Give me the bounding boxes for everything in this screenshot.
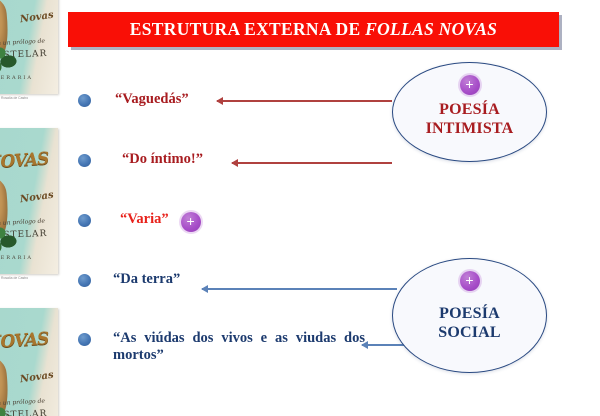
thumbnail-caption: Rosalía de Castro (1, 276, 57, 280)
slide-title-banner: ESTRUTURA EXTERNA DE FOLLAS NOVAS (68, 12, 559, 47)
list-item[interactable]: “Do íntimo!” (78, 151, 203, 168)
list-item[interactable]: “As viúdas dos vivos e as viudas dos mor… (78, 330, 365, 364)
cover-leaf-illustration (0, 219, 21, 252)
group-node-label: POESÍA SOCIAL (438, 304, 501, 342)
cover-leaf-illustration (0, 399, 21, 416)
bullet-icon (78, 94, 91, 107)
group-node-label-line1: POESÍA (438, 304, 501, 323)
expand-plus-badge-varia[interactable]: + (181, 212, 201, 232)
list-item-label: “Da terra” (113, 271, 180, 288)
book-cover-image: NOVAS Novas con un prólogo de CASTELAR L… (0, 128, 58, 274)
expand-plus-badge-social[interactable]: + (460, 271, 480, 291)
group-node-label: POESÍA INTIMISTA (426, 100, 514, 138)
list-item-label: “Vaguedás” (115, 91, 189, 108)
expand-plus-badge-intimista[interactable]: + (460, 75, 480, 95)
cover-script-title: Novas (20, 370, 55, 386)
group-node-label-line2: INTIMISTA (426, 119, 514, 138)
connector-arrow-vaguedas (217, 100, 392, 102)
page-title-work: FOLLAS NOVAS (365, 19, 497, 39)
list-item[interactable]: “Da terra” (78, 271, 180, 288)
cover-script-title: Novas (20, 190, 55, 206)
thumbnail-caption: Rosalía de Castro (1, 96, 57, 100)
book-cover-image: NOVAS Novas con un prólogo de CASTELAR L… (0, 308, 58, 416)
slide-thumbnail-strip[interactable]: NOVAS Novas con un prólogo de CASTELAR L… (0, 0, 62, 416)
page-title: ESTRUTURA EXTERNA DE FOLLAS NOVAS (130, 19, 497, 40)
bullet-icon (78, 274, 91, 287)
bullet-icon (78, 333, 91, 346)
list-item[interactable]: “Vaguedás” (78, 91, 189, 108)
page-title-prefix: ESTRUTURA EXTERNA DE (130, 19, 365, 39)
group-node-label-line1: POESÍA (426, 100, 514, 119)
bullet-icon (78, 214, 91, 227)
cover-script-title: Novas (20, 10, 55, 26)
bullet-icon (78, 154, 91, 167)
list-item-label: “As viúdas dos vivos e as viudas dos mor… (113, 330, 365, 364)
slide-canvas: ESTRUTURA EXTERNA DE FOLLAS NOVAS “Vague… (62, 0, 600, 416)
slide-thumbnail[interactable]: NOVAS Novas con un prólogo de CASTELAR L… (0, 128, 58, 274)
cover-footer: LITERARIA (0, 75, 33, 81)
cover-title: NOVAS (0, 329, 49, 353)
cover-leaf-illustration (0, 39, 21, 72)
cover-title: NOVAS (0, 149, 49, 173)
group-node-poesia-intimista[interactable]: + POESÍA INTIMISTA (392, 62, 547, 162)
book-cover-image: NOVAS Novas con un prólogo de CASTELAR L… (0, 0, 58, 94)
list-item-label: “Do íntimo!” (122, 151, 203, 168)
connector-arrow-da-terra (202, 288, 397, 290)
slide-thumbnail[interactable]: NOVAS Novas con un prólogo de CASTELAR L… (0, 0, 58, 94)
slide-thumbnail[interactable]: NOVAS Novas con un prólogo de CASTELAR L… (0, 308, 58, 416)
group-node-label-line2: SOCIAL (438, 323, 501, 342)
list-item-label: “Varia” (120, 211, 169, 228)
list-item[interactable]: “Varia” + (78, 211, 201, 232)
cover-footer: LITERARIA (0, 255, 33, 261)
connector-arrow-as-viudas (362, 344, 408, 346)
group-node-poesia-social[interactable]: + POESÍA SOCIAL (392, 258, 547, 373)
connector-arrow-do-intimo (232, 162, 392, 164)
slide-viewer: NOVAS Novas con un prólogo de CASTELAR L… (0, 0, 600, 416)
